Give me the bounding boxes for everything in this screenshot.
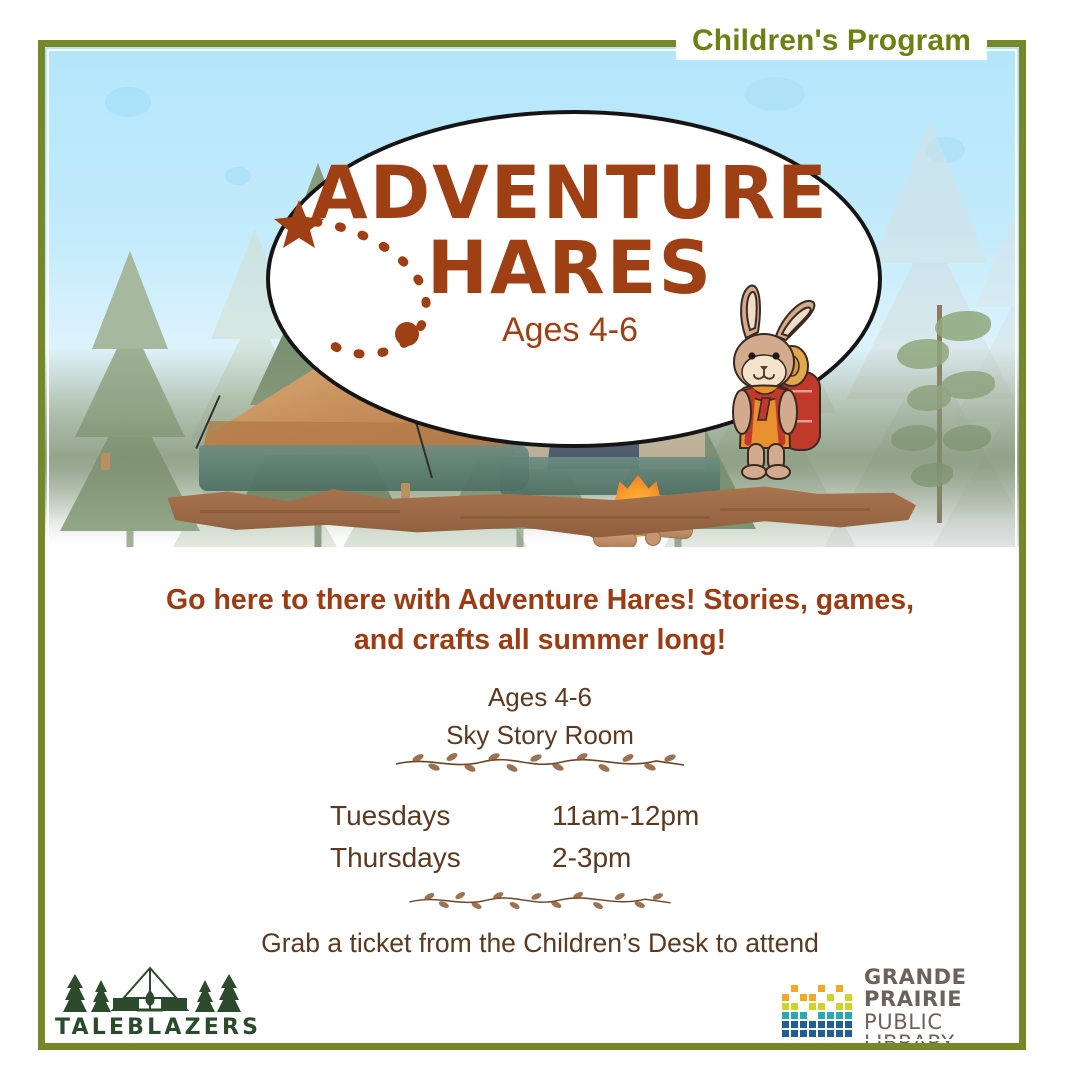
poster-frame <box>38 40 1026 1050</box>
header-tab: Children's Program <box>676 22 987 60</box>
header-label: Children's Program <box>692 26 971 56</box>
poster-canvas: ADVENTURE HARES Ages 4-6 <box>0 0 1080 1080</box>
